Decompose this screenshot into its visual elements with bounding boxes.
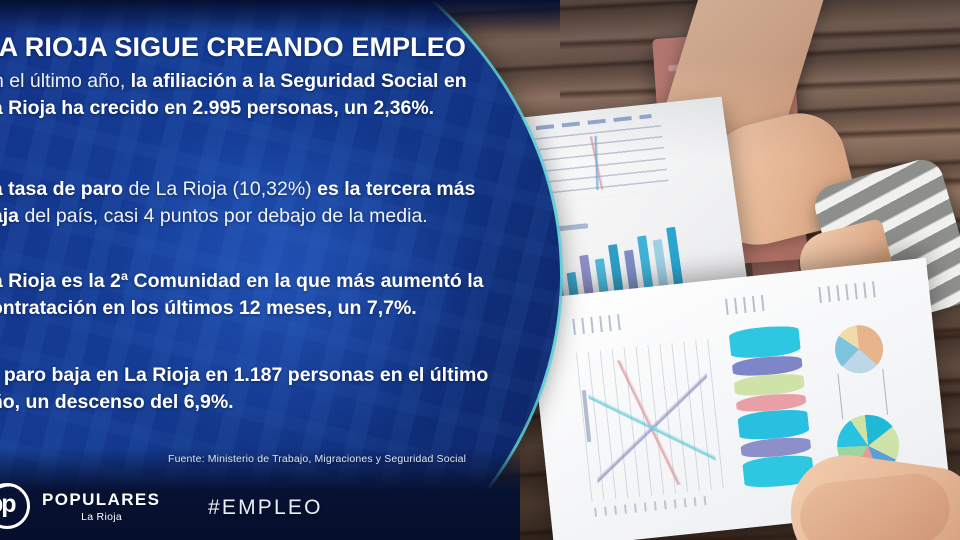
text-run: El paro baja en La Rioja en 1.187 person… bbox=[0, 364, 488, 413]
text-run: La tasa de paro bbox=[0, 178, 128, 200]
source-note: Fuente: Ministerio de Trabajo, Migracion… bbox=[168, 453, 528, 465]
campaign-hashtag: #EMPLEO bbox=[208, 496, 323, 520]
pp-logo[interactable]: pp POPULARES La Rioja bbox=[0, 480, 124, 532]
footer-bar: pp POPULARES La Rioja #EMPLEO bbox=[0, 474, 960, 540]
infographic-canvas: LA RIOJA SIGUE CREANDO EMPLEO En el últi… bbox=[0, 0, 960, 540]
paragraph-afiliacion: En el último año, la afiliación a la Seg… bbox=[0, 68, 492, 122]
text-content: LA RIOJA SIGUE CREANDO EMPLEO En el últi… bbox=[0, 0, 560, 540]
text-run: del país, casi 4 puntos por debajo de la… bbox=[24, 205, 427, 227]
text-run: de La Rioja (10,32%) bbox=[128, 178, 317, 200]
page-title: LA RIOJA SIGUE CREANDO EMPLEO bbox=[0, 32, 502, 63]
paragraph-paro-baja: El paro baja en La Rioja en 1.187 person… bbox=[0, 362, 492, 416]
text-run: En el último año, bbox=[0, 70, 131, 92]
text-run: La Rioja es la 2ª Comunidad en la que má… bbox=[0, 270, 484, 319]
logo-party-name: POPULARES bbox=[42, 490, 160, 510]
logo-region-name: La Rioja bbox=[42, 511, 122, 523]
paragraph-contratacion: La Rioja es la 2ª Comunidad en la que má… bbox=[0, 268, 492, 322]
paragraph-tasa-paro: La tasa de paro de La Rioja (10,32%) es … bbox=[0, 176, 492, 230]
